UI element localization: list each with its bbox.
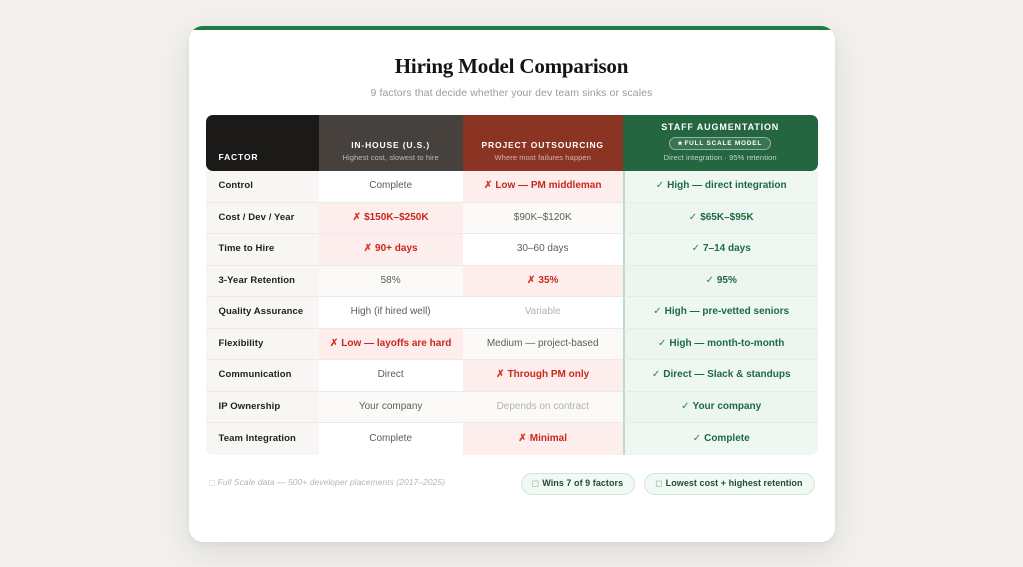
cell-text: Depends on contract	[497, 401, 589, 412]
row-factor-label: IP Ownership	[206, 392, 319, 424]
cell-outsourcing: 30–60 days	[463, 234, 623, 266]
page-subtitle: 9 factors that decide whether your dev t…	[209, 87, 815, 99]
check-icon: ✓	[658, 338, 666, 349]
table-row: IP OwnershipYour companyDepends on contr…	[206, 392, 818, 424]
full-scale-model-badge: ★FULL SCALE MODEL	[669, 137, 771, 151]
cell-text: Direct	[378, 369, 404, 380]
cell-text: $90K–$120K	[514, 212, 572, 223]
table-row: Flexibility✗Low — layoffs are hardMedium…	[206, 329, 818, 361]
footer-badge[interactable]: ◻Wins 7 of 9 factors	[521, 473, 635, 495]
check-icon: ✓	[652, 369, 660, 380]
check-icon: ✓	[693, 433, 701, 444]
comparison-card: Hiring Model Comparison 9 factors that d…	[189, 26, 835, 542]
cell-text: $65K–$95K	[700, 212, 753, 223]
table-body: ControlComplete✗Low — PM middleman✓High …	[206, 171, 818, 455]
row-factor-label: 3-Year Retention	[206, 266, 319, 298]
cell-text: Variable	[525, 306, 561, 317]
star-icon: ★	[677, 141, 683, 147]
table-row: Time to Hire✗90+ days30–60 days✓7–14 day…	[206, 234, 818, 266]
cell-staff-augmentation: ✓Your company	[623, 392, 818, 424]
cell-inhouse: Your company	[319, 392, 463, 424]
footnote-text: Full Scale data — 500+ developer placeme…	[218, 477, 445, 487]
cell-outsourcing: ✗Through PM only	[463, 360, 623, 392]
column-header-inhouse-label: IN-HOUSE (U.S.)	[327, 140, 455, 150]
cell-text: Complete	[369, 180, 412, 191]
cell-inhouse: High (if hired well)	[319, 297, 463, 329]
check-icon: ✓	[653, 306, 661, 317]
cell-text: Minimal	[530, 433, 567, 444]
cell-text: Through PM only	[508, 369, 590, 380]
cell-inhouse: ✗Low — layoffs are hard	[319, 329, 463, 361]
table-row: Team IntegrationComplete✗Minimal✓Complet…	[206, 423, 818, 455]
note-icon: ◻	[209, 477, 216, 487]
column-header-staff-sub: Direct integration · 95% retention	[631, 153, 810, 162]
column-header-staff-label: STAFF AUGMENTATION	[631, 122, 810, 132]
cell-staff-augmentation: ✓$65K–$95K	[623, 203, 818, 235]
row-factor-label: Team Integration	[206, 423, 319, 455]
cell-text: 35%	[538, 275, 558, 286]
table-row: Cost / Dev / Year✗$150K–$250K$90K–$120K✓…	[206, 203, 818, 235]
cell-outsourcing: ✗Low — PM middleman	[463, 171, 623, 203]
cell-text: High — pre-vetted seniors	[665, 306, 789, 317]
page-title: Hiring Model Comparison	[209, 54, 815, 79]
table-row: 3-Year Retention58%✗35%✓95%	[206, 266, 818, 298]
row-factor-label: Cost / Dev / Year	[206, 203, 319, 235]
cell-outsourcing: ✗Minimal	[463, 423, 623, 455]
check-icon: ✓	[656, 180, 664, 191]
cell-inhouse: ✗$150K–$250K	[319, 203, 463, 235]
cross-icon: ✗	[518, 433, 526, 444]
cell-inhouse: 58%	[319, 266, 463, 298]
cell-text: Your company	[359, 401, 423, 412]
footer-badge-icon: ◻	[655, 478, 663, 488]
column-header-inhouse-sub: Highest cost, slowest to hire	[327, 153, 455, 162]
cell-staff-augmentation: ✓Complete	[623, 423, 818, 455]
cell-text: Medium — project-based	[487, 338, 599, 349]
column-header-staff-augmentation: STAFF AUGMENTATION ★FULL SCALE MODEL Dir…	[623, 115, 818, 172]
footer-badge-label: Lowest cost + highest retention	[666, 478, 803, 488]
cross-icon: ✗	[364, 243, 372, 254]
row-factor-label: Communication	[206, 360, 319, 392]
footnote: ◻Full Scale data — 500+ developer placem…	[209, 473, 446, 488]
cross-icon: ✗	[330, 338, 338, 349]
check-icon: ✓	[689, 212, 697, 223]
column-header-factor-label: FACTOR	[219, 152, 311, 162]
cell-outsourcing: Variable	[463, 297, 623, 329]
cell-text: Your company	[693, 401, 762, 412]
cell-staff-augmentation: ✓High — direct integration	[623, 171, 818, 203]
row-factor-label: Control	[206, 171, 319, 203]
check-icon: ✓	[692, 243, 700, 254]
cell-text: Low — layoffs are hard	[341, 338, 451, 349]
table-row: CommunicationDirect✗Through PM only✓Dire…	[206, 360, 818, 392]
cell-text: High (if hired well)	[351, 306, 431, 317]
footer-badge-label: Wins 7 of 9 factors	[542, 478, 623, 488]
cell-staff-augmentation: ✓95%	[623, 266, 818, 298]
row-factor-label: Time to Hire	[206, 234, 319, 266]
cell-text: 30–60 days	[517, 243, 569, 254]
cell-inhouse: ✗90+ days	[319, 234, 463, 266]
cell-staff-augmentation: ✓7–14 days	[623, 234, 818, 266]
cell-staff-augmentation: ✓High — month-to-month	[623, 329, 818, 361]
check-icon: ✓	[705, 275, 713, 286]
card-footer: ◻Full Scale data — 500+ developer placem…	[189, 455, 835, 542]
cross-icon: ✗	[484, 180, 492, 191]
check-icon: ✓	[681, 401, 689, 412]
cross-icon: ✗	[496, 369, 504, 380]
table-header: FACTOR IN-HOUSE (U.S.) Highest cost, slo…	[206, 115, 818, 172]
cell-outsourcing: Depends on contract	[463, 392, 623, 424]
cell-text: High — direct integration	[667, 180, 786, 191]
cell-outsourcing: $90K–$120K	[463, 203, 623, 235]
cell-inhouse: Complete	[319, 423, 463, 455]
row-factor-label: Quality Assurance	[206, 297, 319, 329]
full-scale-model-badge-label: FULL SCALE MODEL	[684, 140, 762, 147]
footer-badges: ◻Wins 7 of 9 factors◻Lowest cost + highe…	[521, 473, 815, 495]
cell-text: 95%	[717, 275, 737, 286]
cell-text: Complete	[704, 433, 750, 444]
column-header-outsourcing-label: PROJECT OUTSOURCING	[471, 140, 615, 150]
row-factor-label: Flexibility	[206, 329, 319, 361]
cell-outsourcing: ✗35%	[463, 266, 623, 298]
cross-icon: ✗	[527, 275, 535, 286]
header-row: FACTOR IN-HOUSE (U.S.) Highest cost, slo…	[206, 115, 818, 172]
footer-badge[interactable]: ◻Lowest cost + highest retention	[644, 473, 814, 495]
cell-staff-augmentation: ✓Direct — Slack & standups	[623, 360, 818, 392]
table-container: FACTOR IN-HOUSE (U.S.) Highest cost, slo…	[189, 115, 835, 455]
cell-text: 90+ days	[375, 243, 418, 254]
column-header-factor: FACTOR	[206, 115, 319, 172]
column-header-outsourcing: PROJECT OUTSOURCING Where most failures …	[463, 115, 623, 172]
table-row: Quality AssuranceHigh (if hired well)Var…	[206, 297, 818, 329]
cell-text: Direct — Slack & standups	[663, 369, 790, 380]
footer-badge-icon: ◻	[532, 478, 540, 488]
cell-text: $150K–$250K	[364, 212, 429, 223]
column-header-inhouse: IN-HOUSE (U.S.) Highest cost, slowest to…	[319, 115, 463, 172]
card-header: Hiring Model Comparison 9 factors that d…	[189, 30, 835, 115]
table-row: ControlComplete✗Low — PM middleman✓High …	[206, 171, 818, 203]
cell-text: 7–14 days	[703, 243, 751, 254]
cell-inhouse: Complete	[319, 171, 463, 203]
cell-inhouse: Direct	[319, 360, 463, 392]
comparison-table: FACTOR IN-HOUSE (U.S.) Highest cost, slo…	[206, 115, 818, 455]
cell-text: Complete	[369, 433, 412, 444]
cell-staff-augmentation: ✓High — pre-vetted seniors	[623, 297, 818, 329]
column-header-outsourcing-sub: Where most failures happen	[471, 153, 615, 162]
cell-text: 58%	[381, 275, 401, 286]
cell-text: Low — PM middleman	[495, 180, 601, 191]
cross-icon: ✗	[353, 212, 361, 223]
cell-text: High — month-to-month	[669, 338, 784, 349]
cell-outsourcing: Medium — project-based	[463, 329, 623, 361]
